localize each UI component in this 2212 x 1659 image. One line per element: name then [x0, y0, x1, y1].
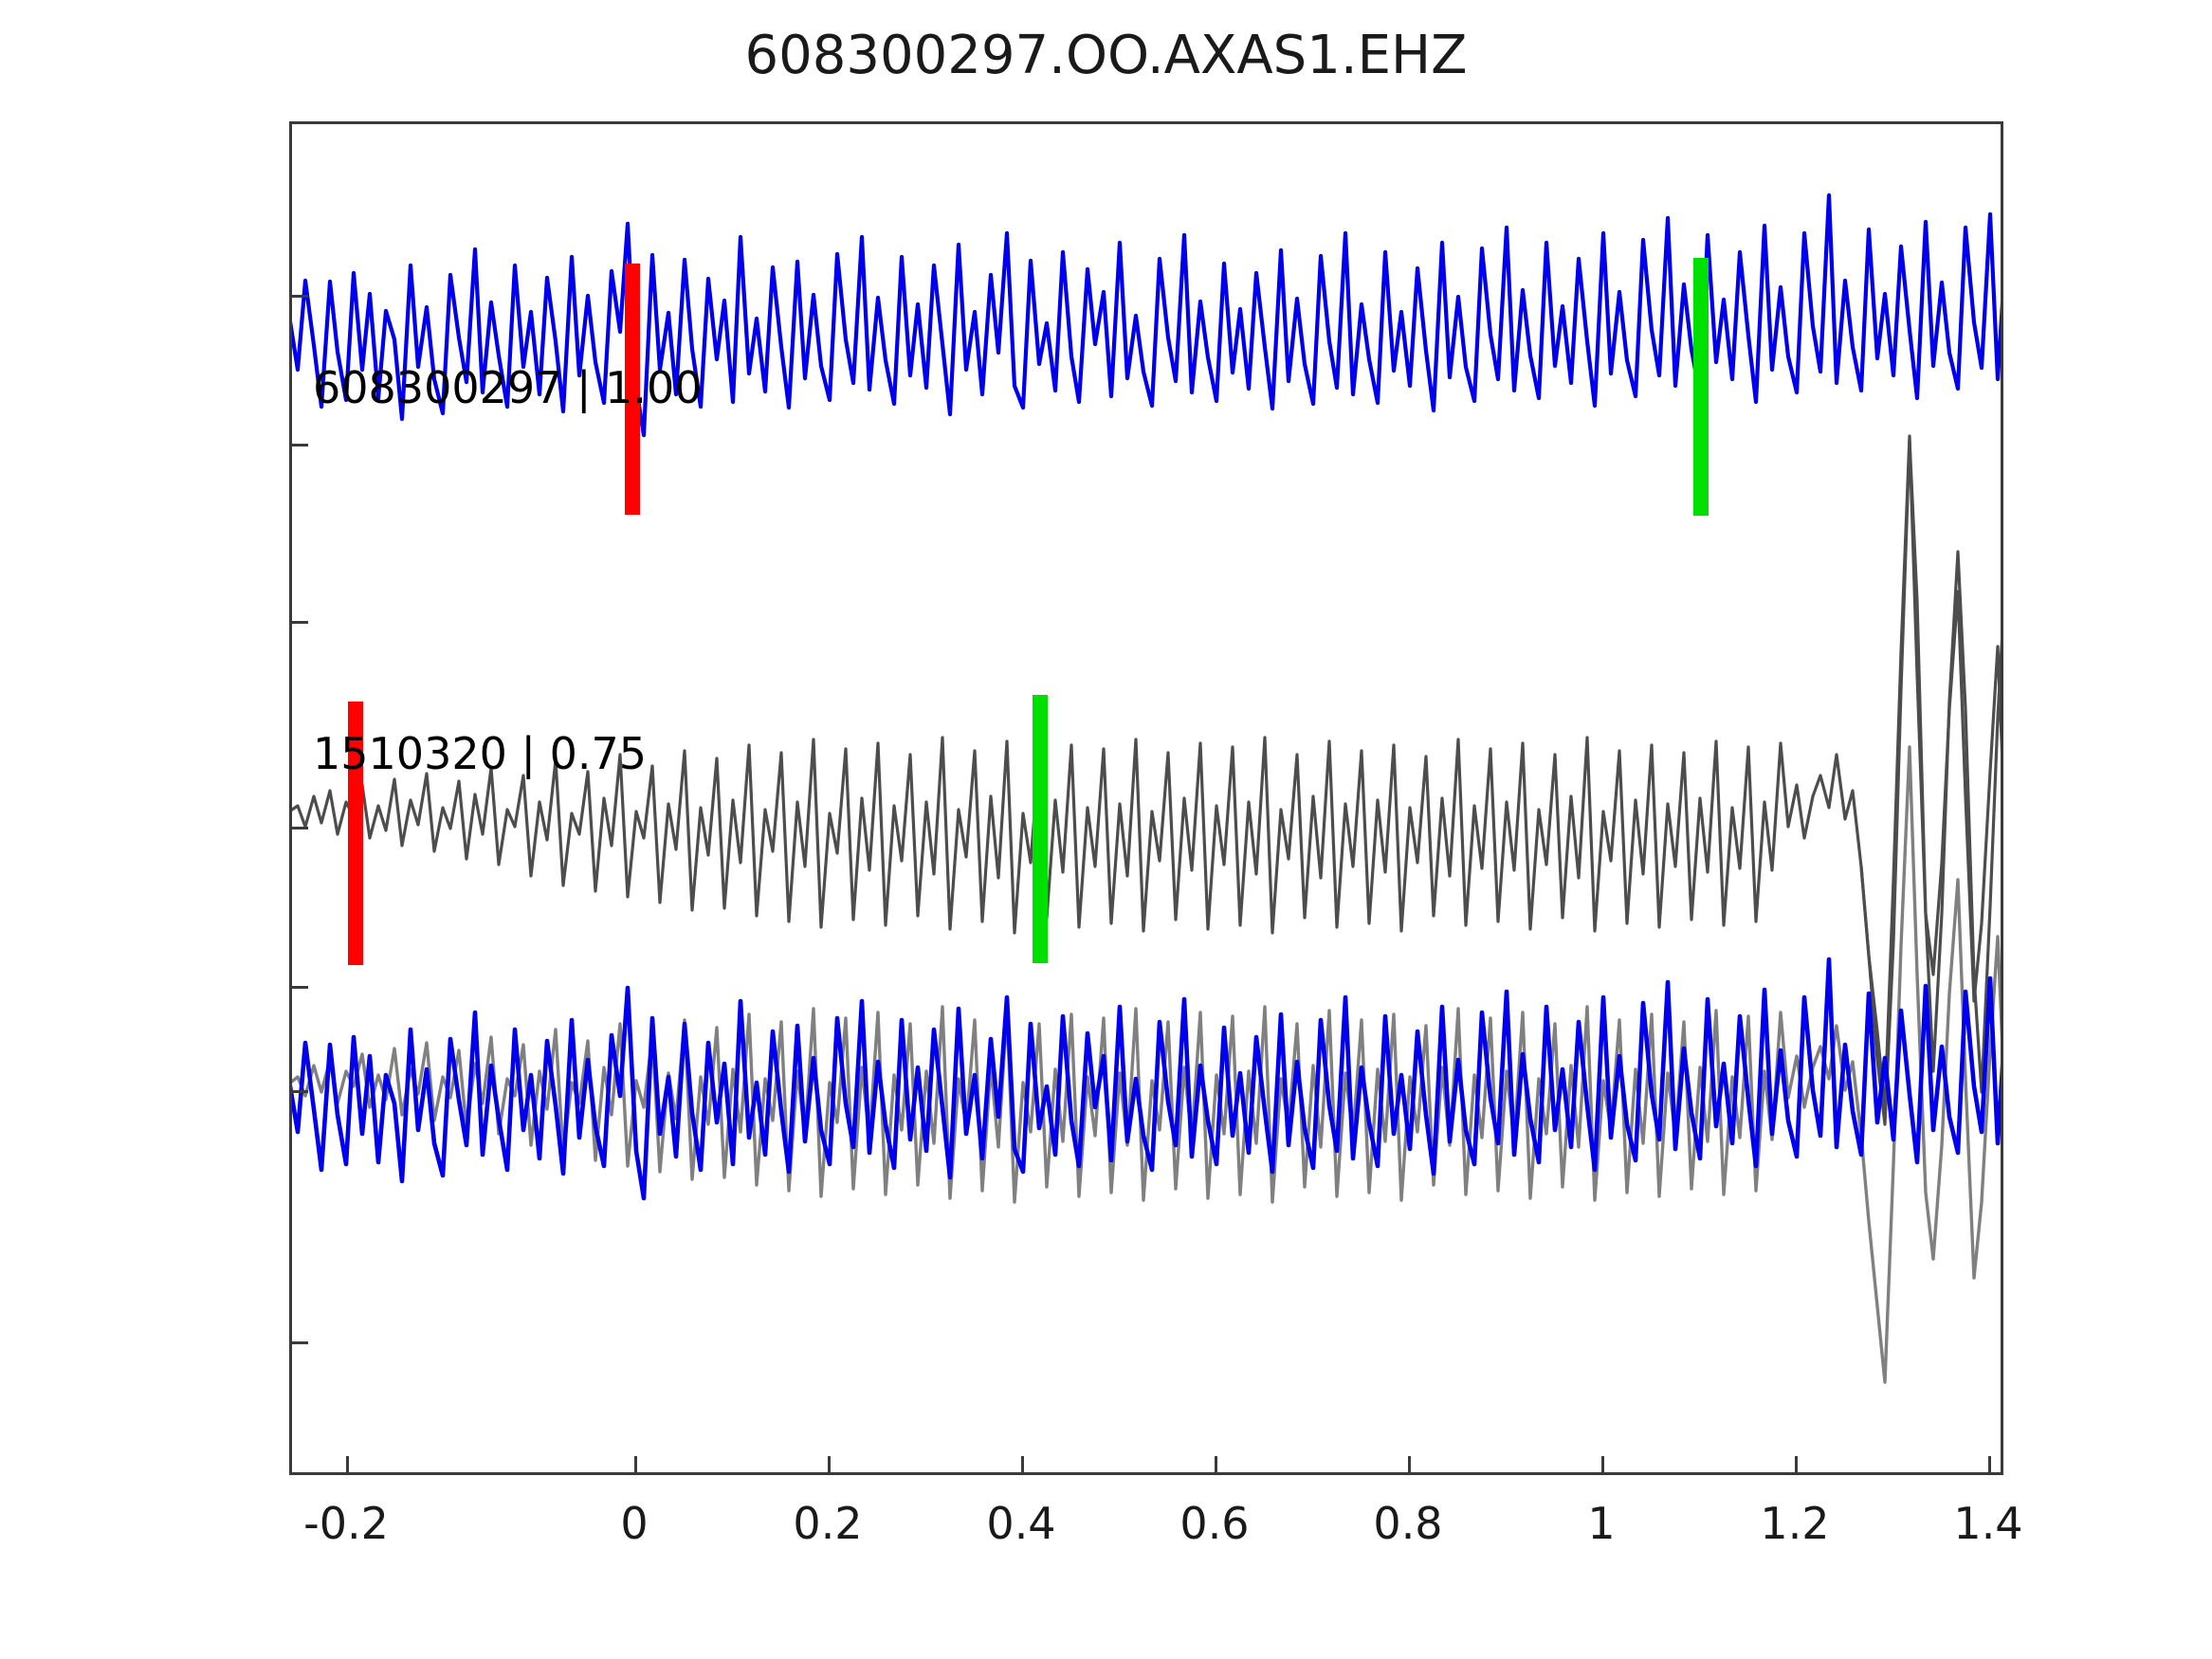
trace-label-two: 1510320 | 0.75	[313, 728, 647, 779]
xticklabel: 0.8	[1373, 1498, 1442, 1549]
xtick-mark	[1601, 1456, 1604, 1475]
trace-line-1510320-coda	[1861, 440, 2003, 1124]
xticklabel: 0	[620, 1498, 648, 1549]
plot-area: 608300297 | 1.00 1510320 | 0.75	[289, 121, 2003, 1475]
xtick-mark	[1795, 1456, 1798, 1475]
xticklabel: 0.4	[986, 1498, 1055, 1549]
trace-label-one: 608300297 | 1.00	[313, 362, 703, 413]
ytick-mark	[289, 827, 308, 829]
ytick-mark	[289, 444, 308, 447]
s-pick-marker-trace-one	[1693, 258, 1709, 516]
xtick-mark	[828, 1456, 831, 1475]
xticklabel: 1.2	[1760, 1498, 1829, 1549]
xtick-mark	[1988, 1456, 1991, 1475]
xticklabel: -0.2	[303, 1498, 389, 1549]
xtick-mark	[1408, 1456, 1411, 1475]
xticklabel: 1	[1587, 1498, 1615, 1549]
page-title: 608300297.OO.AXAS1.EHZ	[0, 25, 2212, 86]
xticklabel: 0.2	[793, 1498, 862, 1549]
s-pick-marker-trace-two	[1033, 695, 1048, 963]
xtick-mark	[1215, 1456, 1217, 1475]
xtick-mark	[346, 1456, 349, 1475]
xticklabel: 0.6	[1179, 1498, 1249, 1549]
ytick-mark	[289, 1341, 308, 1344]
ytick-mark	[289, 295, 308, 298]
xtick-mark	[634, 1456, 637, 1475]
seismogram-traces	[289, 121, 2003, 1475]
xticklabel: 1.4	[1953, 1498, 2022, 1549]
ytick-mark	[289, 986, 308, 989]
ytick-mark	[289, 1090, 308, 1093]
figure-canvas: 608300297.OO.AXAS1.EHZ	[0, 0, 2212, 1659]
xtick-mark	[1021, 1456, 1024, 1475]
ytick-mark	[289, 621, 308, 624]
